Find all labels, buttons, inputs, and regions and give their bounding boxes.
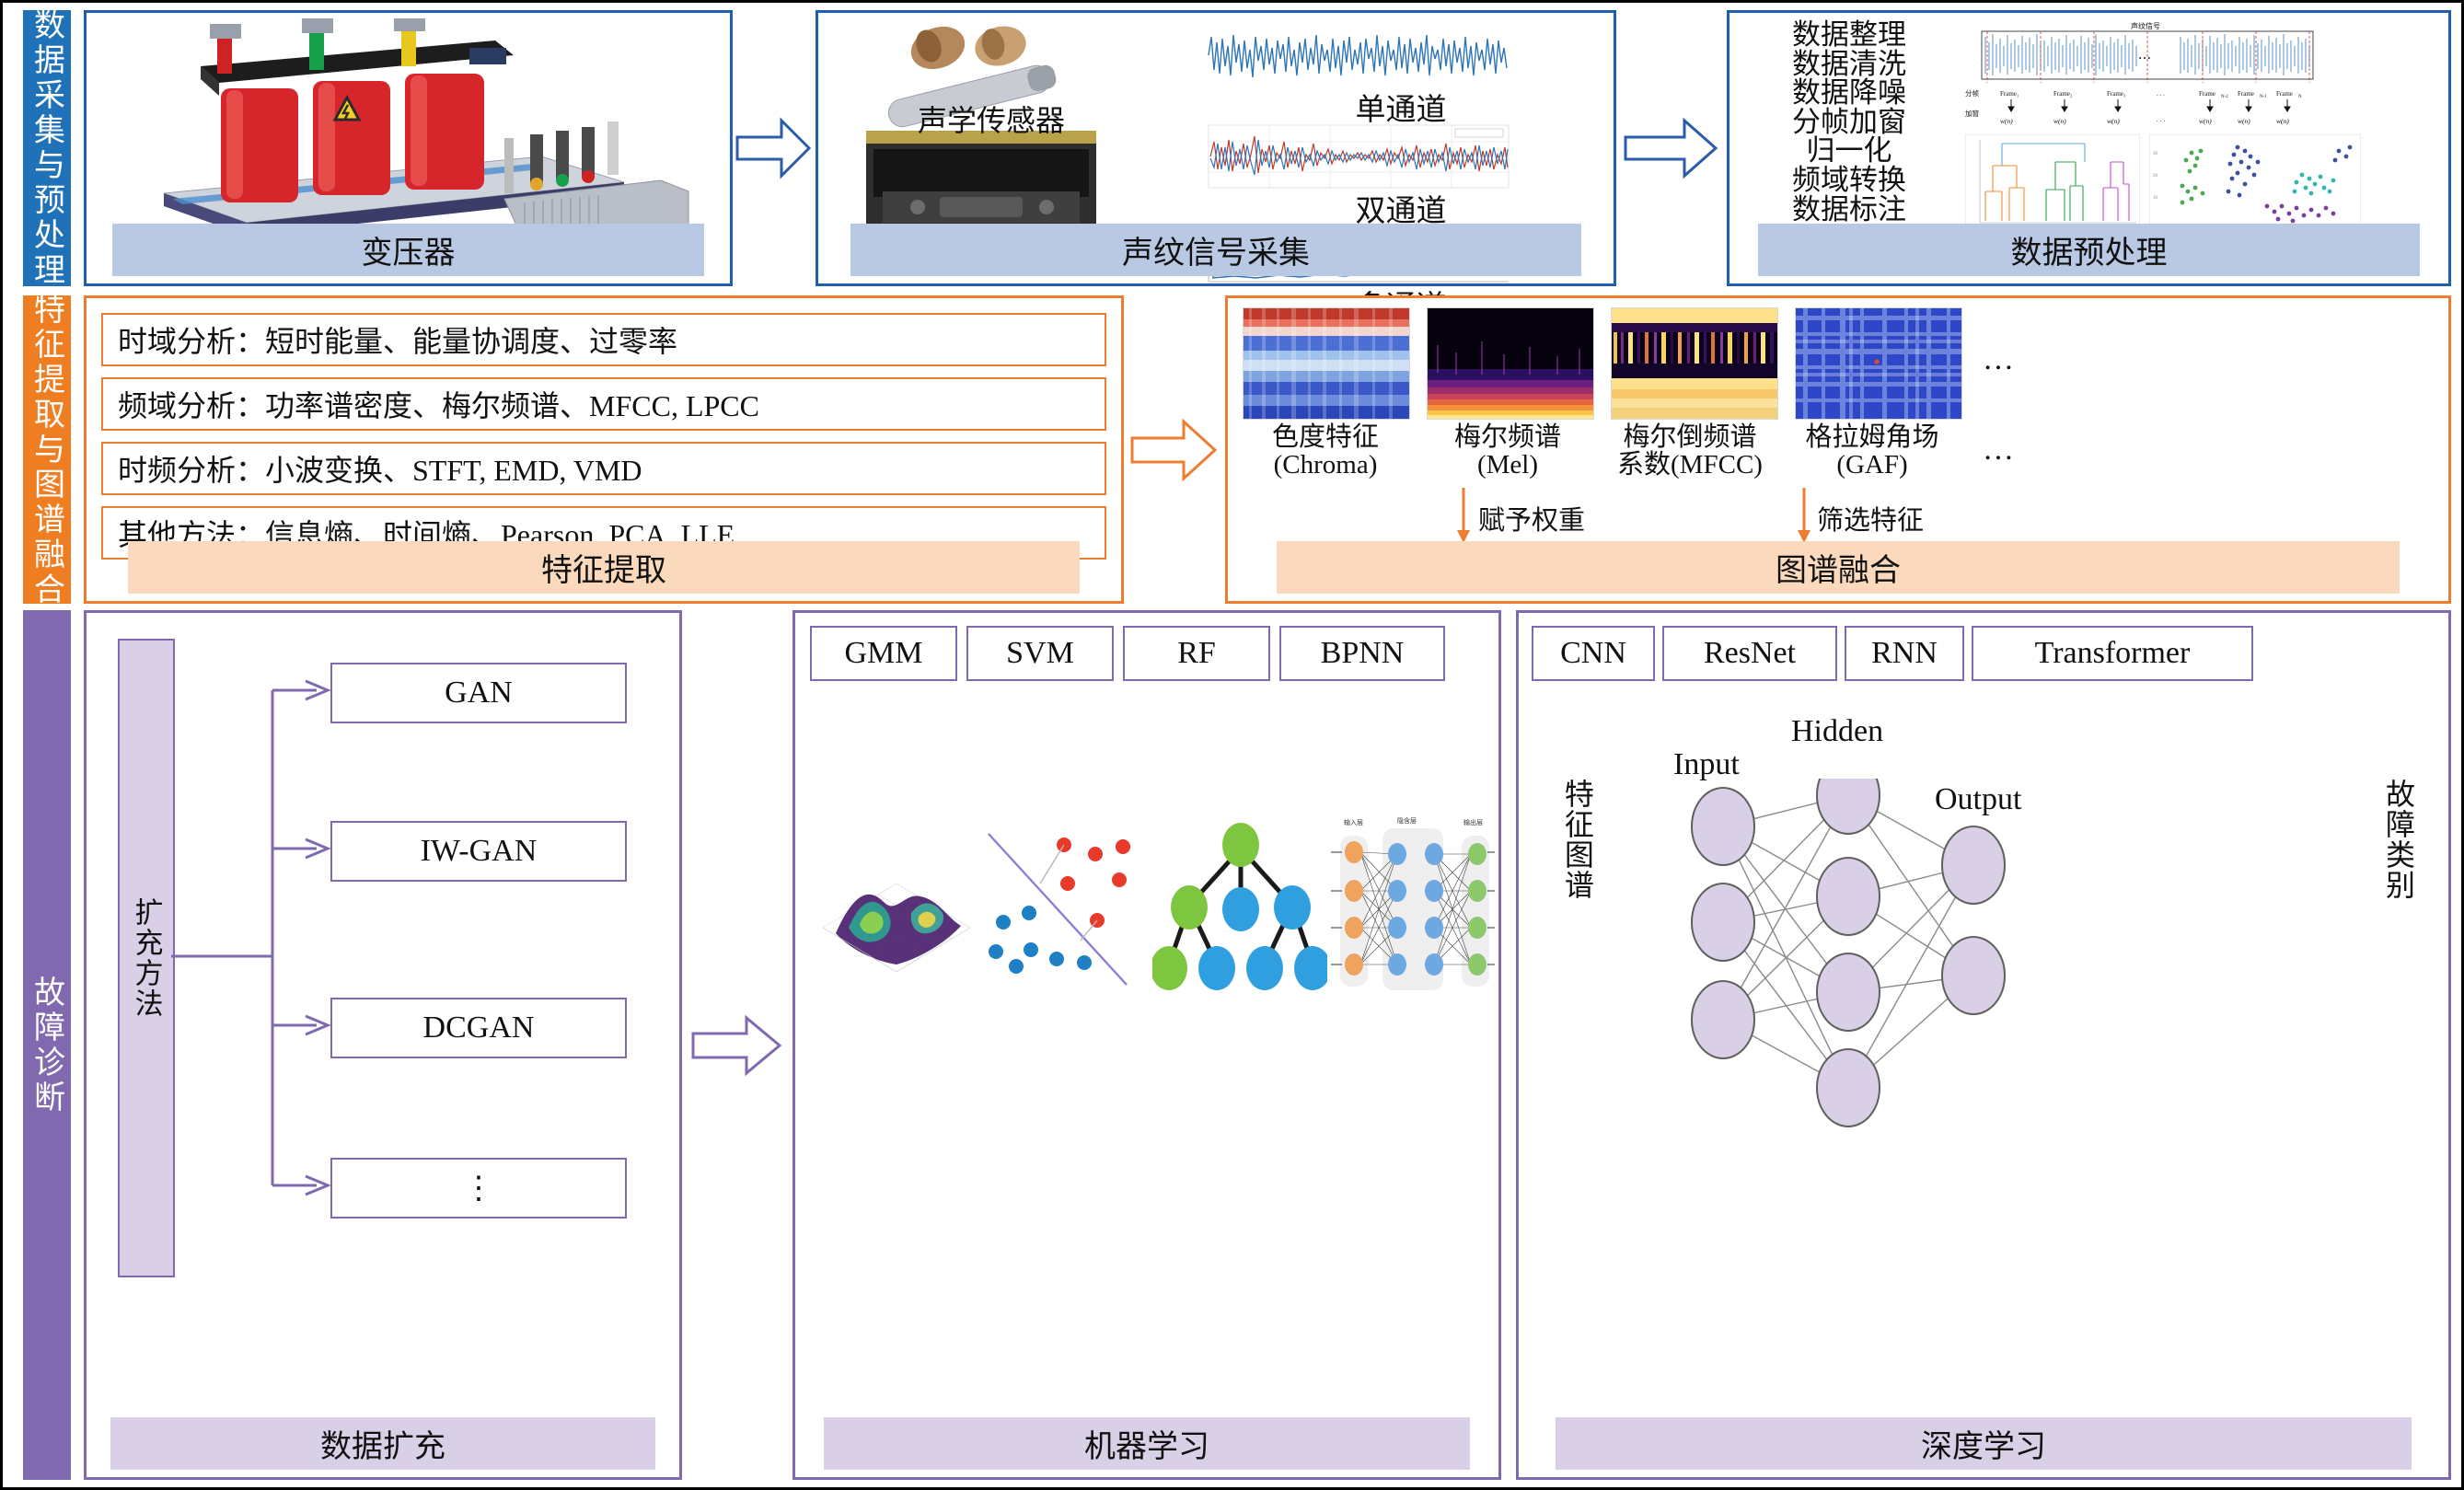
fusion-feature-name: 梅尔频谱 (Mel) xyxy=(1425,423,1591,479)
preprocess-step: 数据清洗 xyxy=(1742,50,1956,79)
feature-method-box: 频域分析：功率谱密度、梅尔频谱、MFCC, LPCC xyxy=(101,377,1106,431)
sensor-photos: 声学传感器 声纹信号采集设备 xyxy=(829,20,1197,226)
svg-text:w(n): w(n) xyxy=(2000,117,2013,125)
fusion-feature-abbr: 系数(MFCC) xyxy=(1607,451,1773,479)
svg-text:w(n): w(n) xyxy=(2053,117,2066,125)
row-feature-extraction: 特征提取与图谱融合 时域分析：短时能量、能量协调度、过零率 频域分析：功率谱密度… xyxy=(23,295,2451,604)
svg-text:隐含层: 隐含层 xyxy=(1397,816,1417,825)
panel-data-augmentation: 扩充方法 xyxy=(84,610,682,1480)
fusion-feature-title: 色度特征 xyxy=(1243,423,1408,451)
weighting-note: 赋予权重 xyxy=(1478,499,1585,537)
svg-text:. . .: . . . xyxy=(2157,90,2165,98)
svg-text:N-2: N-2 xyxy=(2221,95,2228,99)
panel-caption-feature-extraction: 特征提取 xyxy=(128,541,1080,594)
panel-caption-data-augmentation: 数据扩充 xyxy=(110,1417,656,1470)
svg-text:20: 20 xyxy=(2153,174,2158,179)
preprocess-step: 频域转换 xyxy=(1742,166,1956,195)
svg-text:w(n): w(n) xyxy=(2276,117,2289,125)
dl-model-chip: ResNet xyxy=(1662,626,1837,681)
chroma-spectrogram-image xyxy=(1243,307,1410,420)
svg-text:N-1: N-1 xyxy=(2260,95,2267,99)
fusion-feature-title: 梅尔频谱 xyxy=(1425,423,1591,451)
ml-model-chip: RF xyxy=(1123,626,1270,681)
arrow-transformer-to-acquisition xyxy=(733,10,816,286)
gaf-image xyxy=(1795,307,1962,420)
augmentation-branch-connectors xyxy=(171,639,335,1274)
fusion-feature-title: 格拉姆角场 xyxy=(1789,423,1955,451)
preprocess-step-list: 数据整理 数据清洗 数据降噪 分帧加窗 归一化 频域转换 数据标注 … xyxy=(1742,18,1956,226)
preprocess-step: 数据降噪 xyxy=(1742,78,1956,108)
augmentation-methods-text: 扩充方法 xyxy=(126,897,168,1019)
feature-method-box: 时域分析：短时能量、能量协调度、过零率 xyxy=(101,313,1106,366)
ml-model-chip: SVM xyxy=(966,626,1114,681)
panel-caption-transformer: 变压器 xyxy=(112,224,704,276)
dl-input-side-label: 特征图谱 xyxy=(1561,779,1592,900)
dl-model-chip: CNN xyxy=(1532,626,1655,681)
panel-data-preprocess: 数据整理 数据清洗 数据降噪 分帧加窗 归一化 频域转换 数据标注 … 声纹信号 xyxy=(1727,10,2451,286)
transformer-photo xyxy=(109,18,698,239)
feature-method-text: 时频分析：小波变换、STFT, EMD, VMD xyxy=(103,447,642,490)
panel-caption-preprocess: 数据预处理 xyxy=(1758,224,2420,276)
framing-windowing-figure: 声纹信号 xyxy=(1961,20,2330,131)
row-label-text: 特征提取与图谱融合 xyxy=(25,293,70,607)
augmentation-methods-label: 扩充方法 xyxy=(118,639,175,1277)
augmentation-item-more: ⋮ xyxy=(330,1158,627,1219)
preprocess-step: 数据整理 xyxy=(1742,20,1956,50)
svg-text:Frame: Frame xyxy=(2238,90,2254,98)
svg-text:声纹信号: 声纹信号 xyxy=(2131,21,2160,30)
tsne-scatter-figure: 302010 xyxy=(2149,134,2361,230)
arrow-augmentation-to-ml xyxy=(682,610,792,1480)
fusion-feature-title: 梅尔倒频谱 xyxy=(1607,423,1773,451)
sensor-label: 声学传感器 xyxy=(918,98,1065,140)
ml-model-chip: GMM xyxy=(810,626,957,681)
panel-caption-graph-fusion: 图谱融合 xyxy=(1277,541,2400,594)
row-fault-diagnosis: 故障诊断 扩充方法 xyxy=(23,610,2451,1480)
svg-text:分帧: 分帧 xyxy=(1965,88,1980,98)
panel-voiceprint-acquisition: 声学传感器 声纹信号采集设备 单通道 xyxy=(816,10,1616,286)
svg-text:加窗: 加窗 xyxy=(1965,109,1979,118)
row-data-acquisition: 数据采集与预处理 xyxy=(23,10,2451,286)
panel-graph-fusion: 色度特征 (Chroma) 梅尔频谱 (Mel) 梅尔倒频谱 系数(MFCC) … xyxy=(1225,295,2451,604)
preprocess-step: 归一化 xyxy=(1742,136,1956,166)
row-label-text: 数据采集与预处理 xyxy=(25,8,70,288)
signal-previews: 单通道 双通道 xyxy=(1197,20,1604,226)
svg-text:• • •: • • • xyxy=(2139,54,2151,63)
augmentation-item: DCGAN xyxy=(330,998,627,1058)
gmm-surface-figure xyxy=(808,825,983,990)
augmentation-item: GAN xyxy=(330,663,627,723)
mel-spectrogram-image xyxy=(1427,307,1594,420)
augmentation-item: IW-GAN xyxy=(330,821,627,882)
svg-text:输出层: 输出层 xyxy=(1463,818,1483,826)
row-label-text: 故障诊断 xyxy=(25,976,70,1115)
panel-feature-extraction: 时域分析：短时能量、能量协调度、过零率 频域分析：功率谱密度、梅尔频谱、MFCC… xyxy=(84,295,1124,604)
dl-model-chip: RNN xyxy=(1845,626,1964,681)
svg-text:w(n): w(n) xyxy=(2238,117,2250,125)
dl-output-side-label: 故障类别 xyxy=(2382,779,2413,900)
arrow-features-to-fusion xyxy=(1124,295,1225,604)
preprocess-step: 数据标注 xyxy=(1742,195,1956,225)
mfcc-spectrogram-image xyxy=(1611,307,1778,420)
fusion-feature-name: 色度特征 (Chroma) xyxy=(1243,423,1408,479)
preprocess-step: 分帧加窗 xyxy=(1742,108,1956,137)
dl-layer-label-input: Input xyxy=(1673,747,1740,782)
selection-note: 筛选特征 xyxy=(1817,499,1924,537)
svg-text:Frame: Frame xyxy=(2276,90,2293,98)
signal-single-channel-plot xyxy=(1207,22,1510,88)
svg-text:N: N xyxy=(2298,95,2302,99)
svm-scatter-figure xyxy=(976,823,1141,996)
fusion-feature-abbr: (GAF) xyxy=(1789,451,1955,479)
fusion-ellipsis-bottom: … xyxy=(1983,433,2014,468)
deep-network-figure xyxy=(1666,779,2089,1174)
signal-dual-channel-plot xyxy=(1207,123,1510,190)
panel-deep-learning: CNN ResNet RNN Transformer 特征图谱 故障类别 Inp… xyxy=(1516,610,2451,1480)
row-label-feature-extraction: 特征提取与图谱融合 xyxy=(23,295,71,604)
ml-model-chip: BPNN xyxy=(1279,626,1445,681)
bpnn-network-figure: 输入层隐含层输出层 xyxy=(1325,812,1497,996)
svg-text:. . .: . . . xyxy=(2157,115,2166,123)
dl-model-chip: Transformer xyxy=(1972,626,2253,681)
panel-transformer: 变压器 xyxy=(84,10,733,286)
feature-method-text: 时域分析：短时能量、能量协调度、过零率 xyxy=(103,318,677,361)
row-label-fault-diagnosis: 故障诊断 xyxy=(23,610,71,1480)
panel-caption-deep-learning: 深度学习 xyxy=(1556,1417,2411,1470)
svg-text:Frame₃: Frame₃ xyxy=(2107,90,2126,98)
row-label-data-acquisition: 数据采集与预处理 xyxy=(23,10,71,286)
dl-layer-label-hidden: Hidden xyxy=(1791,714,1883,749)
fusion-feature-abbr: (Chroma) xyxy=(1243,451,1408,479)
arrow-acquisition-to-preprocess xyxy=(1616,10,1727,286)
dendrogram-figure xyxy=(1965,134,2140,230)
fusion-feature-name: 格拉姆角场 (GAF) xyxy=(1789,423,1955,479)
fusion-feature-abbr: (Mel) xyxy=(1425,451,1591,479)
pipeline-diagram: 数据采集与预处理 xyxy=(0,0,2464,1490)
signal-label-single: 单通道 xyxy=(1197,85,1604,129)
svg-text:10: 10 xyxy=(2153,196,2158,201)
random-forest-tree-figure xyxy=(1152,817,1327,998)
svg-text:Frame₂: Frame₂ xyxy=(2053,90,2073,98)
panel-caption-machine-learning: 机器学习 xyxy=(824,1417,1471,1470)
fusion-feature-name: 梅尔倒频谱 系数(MFCC) xyxy=(1607,423,1773,479)
svg-text:30: 30 xyxy=(2153,152,2158,156)
svg-text:w(n): w(n) xyxy=(2199,117,2212,125)
svg-text:Frame: Frame xyxy=(2199,90,2215,98)
feature-method-box: 时频分析：小波变换、STFT, EMD, VMD xyxy=(101,442,1106,495)
feature-method-text: 频域分析：功率谱密度、梅尔频谱、MFCC, LPCC xyxy=(103,383,759,425)
panel-caption-acquisition: 声纹信号采集 xyxy=(850,224,1582,276)
svg-text:w(n): w(n) xyxy=(2107,117,2120,125)
panel-machine-learning: GMM SVM RF BPNN xyxy=(792,610,1501,1480)
svg-text:Frame₁: Frame₁ xyxy=(2000,90,2019,98)
fusion-ellipsis-top: … xyxy=(1983,342,2014,377)
svg-text:输入层: 输入层 xyxy=(1344,818,1363,826)
